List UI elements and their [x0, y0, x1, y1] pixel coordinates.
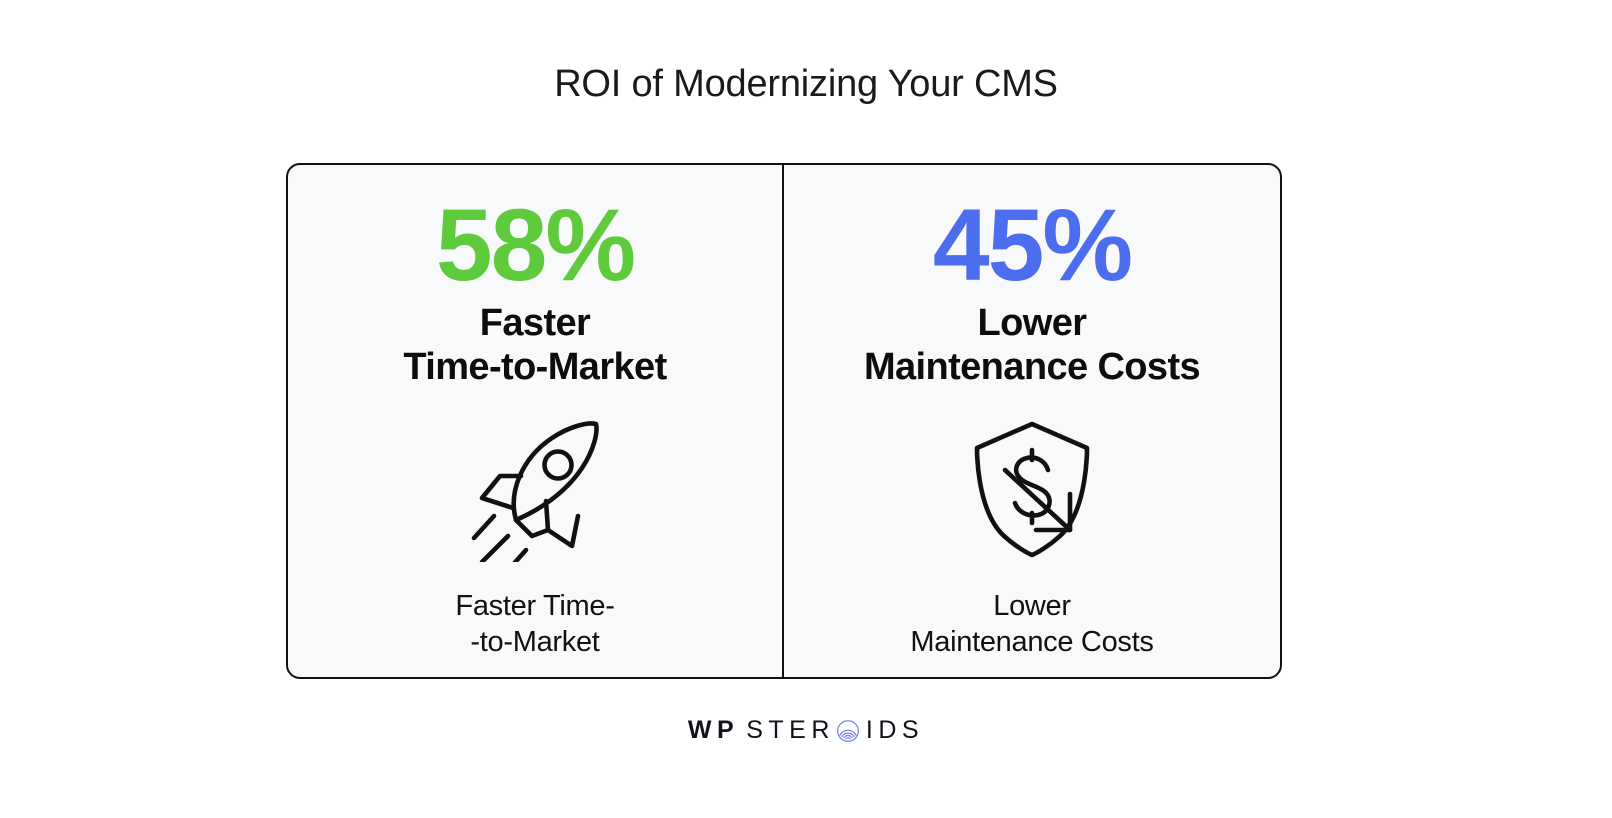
stat-value-58: 58%	[436, 193, 634, 297]
stat-headline-faster-time-to-market: Faster Time-to-Market	[403, 301, 666, 389]
stat-caption-lower-maintenance-costs: Lower Maintenance Costs	[910, 589, 1153, 660]
stat-headline-lower-maintenance-costs: Lower Maintenance Costs	[864, 301, 1200, 389]
brand-logo-wp: WP	[688, 716, 739, 745]
infographic-canvas: ROI of Modernizing Your CMS 58% Faster T…	[0, 0, 1612, 818]
page-title: ROI of Modernizing Your CMS	[0, 62, 1612, 108]
stat-caption-faster-time-to-market: Faster Time- -to-Market	[455, 589, 614, 660]
stat-value-45: 45%	[933, 193, 1131, 297]
concentric-arcs-icon	[836, 719, 860, 743]
brand-logo-ster: STER	[746, 716, 835, 745]
stat-panel-maintenance-costs: 45% Lower Maintenance Costs Lower Mainte…	[784, 165, 1280, 677]
stats-frame: 58% Faster Time-to-Market	[286, 163, 1282, 679]
shield-dollar-down-icon	[957, 411, 1107, 563]
brand-logo-ids: IDS	[866, 716, 924, 745]
stat-panel-time-to-market: 58% Faster Time-to-Market	[288, 165, 784, 677]
rocket-icon	[460, 411, 610, 563]
brand-logo: WP STER IDS	[0, 716, 1612, 745]
